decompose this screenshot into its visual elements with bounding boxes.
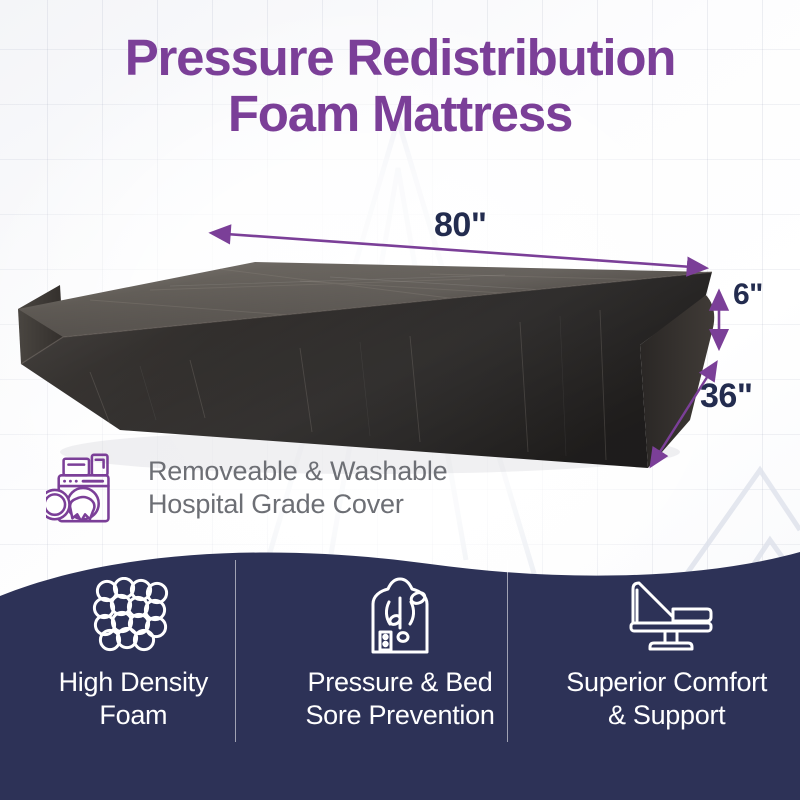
feature-icon-wrap-2: [362, 576, 438, 654]
feature-label-1-line-1: High Density: [59, 666, 208, 699]
mattress-top-face: [18, 262, 712, 337]
feature-list: High Density Foam: [0, 550, 800, 800]
product-marketing-image: Pressure Redistribution Foam Mattress: [0, 0, 800, 800]
dimension-label-length: 80": [434, 206, 486, 245]
foam-cells-icon: [91, 577, 175, 653]
mattress-front-face: [21, 272, 712, 468]
feature-label-2-line-2: Sore Prevention: [305, 699, 494, 732]
cover-feature-text: Removeable & Washable Hospital Grade Cov…: [148, 455, 447, 521]
title-line-2: Foam Mattress: [0, 86, 800, 142]
washing-machine-icon: [46, 448, 128, 528]
reclining-bed-icon: [621, 577, 713, 653]
feature-label-3-line-2: & Support: [566, 699, 767, 732]
mattress-left-face: [18, 285, 63, 364]
page-title: Pressure Redistribution Foam Mattress: [0, 30, 800, 142]
feature-icon-wrap-1: [91, 576, 175, 654]
feature-divider-1: [235, 560, 236, 742]
dimension-label-height: 6": [733, 278, 763, 312]
cover-feature-line-1: Removeable & Washable: [148, 455, 447, 488]
dimension-label-width: 36": [700, 377, 752, 416]
feature-item-high-density-foam: High Density Foam: [0, 576, 267, 732]
cover-feature: Removeable & Washable Hospital Grade Cov…: [46, 448, 447, 528]
feature-label-1-line-2: Foam: [59, 699, 208, 732]
feature-banner: High Density Foam: [0, 550, 800, 800]
feature-label-1: High Density Foam: [59, 666, 208, 732]
title-line-1: Pressure Redistribution: [0, 30, 800, 86]
feature-divider-2: [507, 560, 508, 742]
feature-label-2-line-1: Pressure & Bed: [305, 666, 494, 699]
feature-label-3-line-1: Superior Comfort: [566, 666, 767, 699]
feature-item-superior-comfort: Superior Comfort & Support: [533, 576, 800, 732]
feature-label-3: Superior Comfort & Support: [566, 666, 767, 732]
cover-feature-line-2: Hospital Grade Cover: [148, 488, 447, 521]
feature-icon-wrap-3: [621, 576, 713, 654]
feature-item-pressure-sore-prevention: Pressure & Bed Sore Prevention: [267, 576, 534, 732]
torso-pressure-sore-icon: [362, 576, 438, 654]
feature-label-2: Pressure & Bed Sore Prevention: [305, 666, 494, 732]
